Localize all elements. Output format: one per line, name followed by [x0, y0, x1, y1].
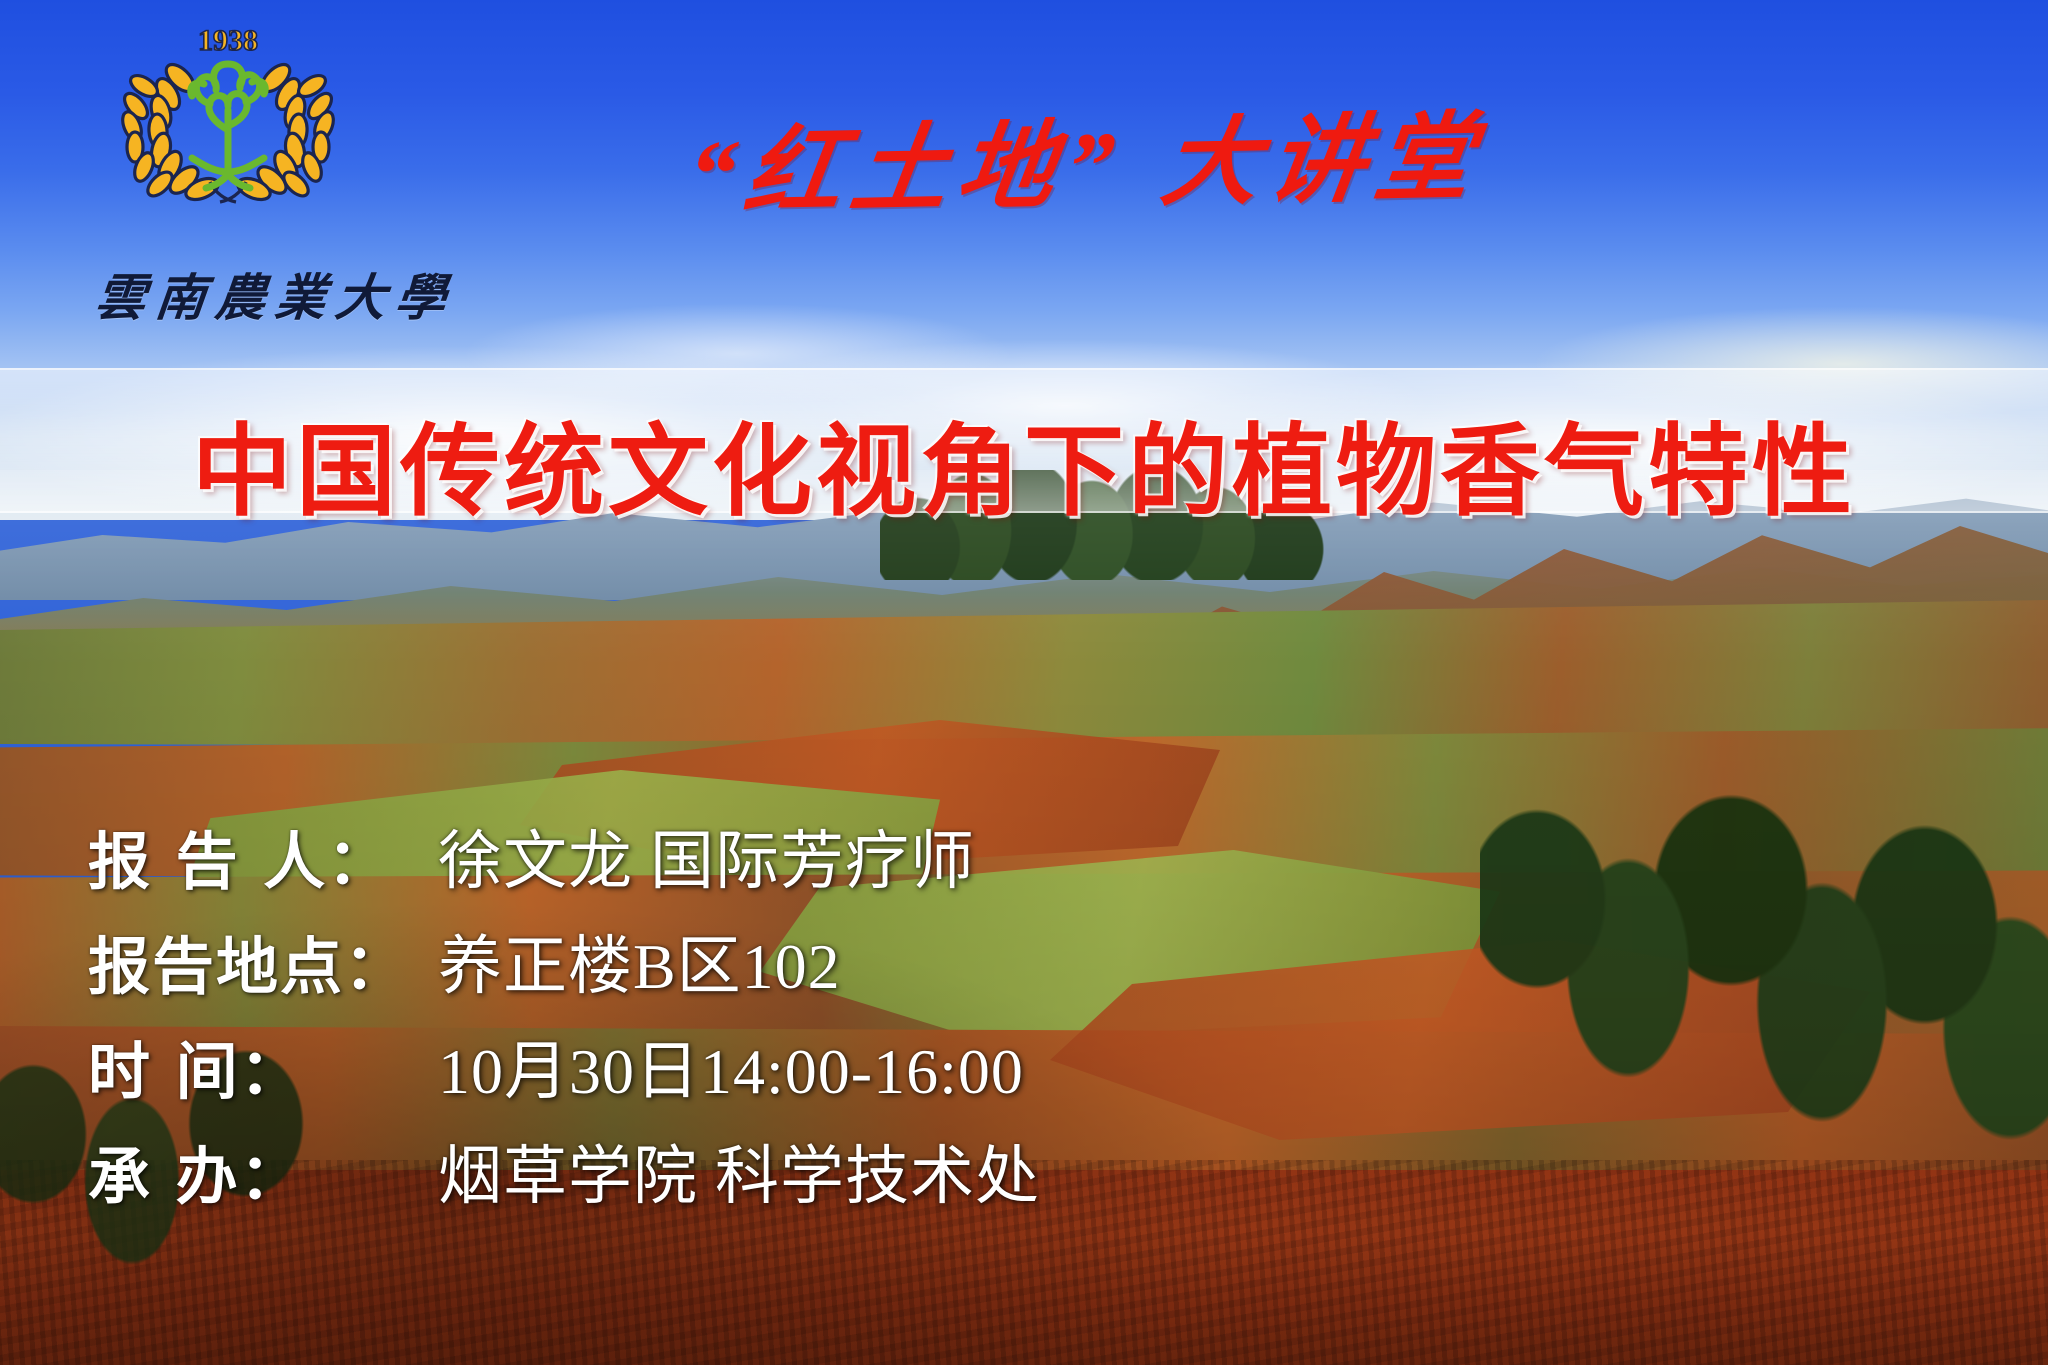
- poster-canvas: 1938: [0, 0, 2048, 1365]
- speaker-value: 徐文龙 国际芳疗师: [438, 810, 975, 902]
- emblem-year-1938: 1938: [198, 24, 258, 57]
- lecture-series-title-quoted: “红土地”: [680, 111, 1130, 227]
- detail-row-organizer: 承 办： 烟草学院 科学技术处: [88, 1125, 1388, 1230]
- detail-row-venue: 报告地点： 养正楼B区102: [88, 915, 1388, 1020]
- svg-text:1938: 1938: [198, 24, 258, 57]
- speaker-label: 报 告 人：: [88, 811, 438, 901]
- organizer-label: 承 办：: [88, 1126, 438, 1216]
- page-title: 中国传统文化视角下的植物香气特性: [0, 390, 2048, 535]
- university-name-calligraphy: 雲南農業大學: [92, 258, 460, 330]
- event-details-block: 报 告 人： 徐文龙 国际芳疗师 报告地点： 养正楼B区102 时 间： 10月…: [88, 810, 1388, 1230]
- venue-value: 养正楼B区102: [438, 915, 841, 1007]
- stylized-tree-symbol: [191, 64, 266, 188]
- lecture-series-title-suffix: 大讲堂: [1156, 104, 1490, 218]
- organizer-value: 烟草学院 科学技术处: [438, 1125, 1040, 1217]
- university-emblem-logo: 1938: [118, 22, 338, 212]
- time-value: 10月30日14:00-16:00: [438, 1020, 1024, 1112]
- detail-row-speaker: 报 告 人： 徐文龙 国际芳疗师: [88, 810, 1388, 915]
- venue-label: 报告地点：: [88, 916, 438, 1006]
- time-label: 时 间：: [88, 1021, 438, 1111]
- detail-row-time: 时 间： 10月30日14:00-16:00: [88, 1020, 1388, 1125]
- lecture-series-title: “红土地”大讲堂: [679, 80, 1420, 234]
